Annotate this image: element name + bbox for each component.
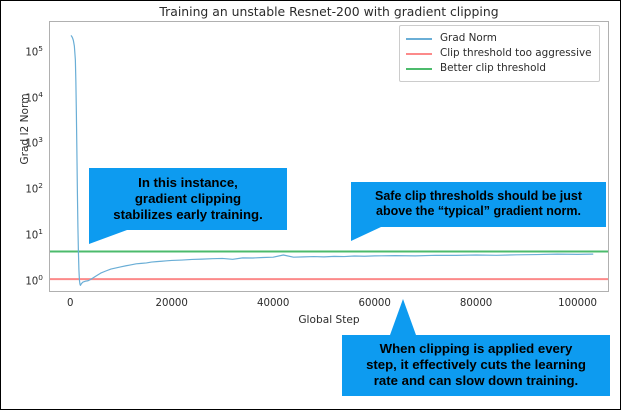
annotation-line: above the “typical” gradient norm. (355, 204, 602, 219)
annotation-line: In this instance, (93, 175, 283, 191)
x-tick-label: 80000 (460, 298, 492, 309)
screenshot-root: Training an unstable Resnet-200 with gra… (0, 0, 621, 410)
callout-tail-icon (351, 227, 381, 241)
legend-label: Better clip threshold (440, 61, 546, 76)
x-tick-label: 100000 (558, 298, 597, 309)
x-tick-label: 60000 (358, 298, 390, 309)
callout-tail-icon (390, 299, 416, 335)
annotation-line: Safe clip thresholds should be just (355, 189, 602, 204)
legend-swatch-better-clip-threshold (406, 68, 432, 70)
y-tick-label: 101 (25, 227, 43, 241)
legend: Grad Norm Clip threshold too aggressive … (399, 25, 600, 82)
page-title: Training an unstable Resnet-200 with gra… (49, 4, 609, 19)
y-tick-label: 100 (25, 273, 43, 287)
y-axis-label: Grad l2 Norm (19, 59, 31, 199)
x-tick-label: 0 (67, 298, 73, 309)
matplotlib-figure: Training an unstable Resnet-200 with gra… (1, 1, 620, 409)
legend-swatch-grad-norm (406, 38, 432, 40)
annotation-line: gradient clipping (93, 191, 283, 207)
annotation-line: When clipping is applied every (346, 341, 606, 357)
legend-swatch-clip-threshold-aggressive (406, 53, 432, 55)
x-tick-label: 20000 (155, 298, 187, 309)
legend-label: Clip threshold too aggressive (440, 46, 592, 61)
legend-item-better-clip-threshold: Better clip threshold (406, 61, 592, 76)
annotation-callout-clipping-slows-training: When clipping is applied every step, it … (342, 335, 610, 396)
annotation-callout-safe-threshold: Safe clip thresholds should be just abov… (351, 182, 606, 227)
legend-item-grad-norm: Grad Norm (406, 31, 592, 46)
annotation-line: stabilizes early training. (93, 207, 283, 223)
annotation-callout-early-training: In this instance, gradient clipping stab… (89, 168, 287, 230)
annotation-line: rate and can slow down training. (346, 373, 606, 389)
x-tick-label: 40000 (257, 298, 289, 309)
legend-label: Grad Norm (440, 31, 497, 46)
x-axis-label: Global Step (49, 314, 609, 326)
legend-item-clip-threshold-aggressive: Clip threshold too aggressive (406, 46, 592, 61)
annotation-line: step, it effectively cuts the learning (346, 357, 606, 373)
callout-tail-icon (89, 230, 127, 244)
y-tick-label: 105 (25, 44, 43, 58)
